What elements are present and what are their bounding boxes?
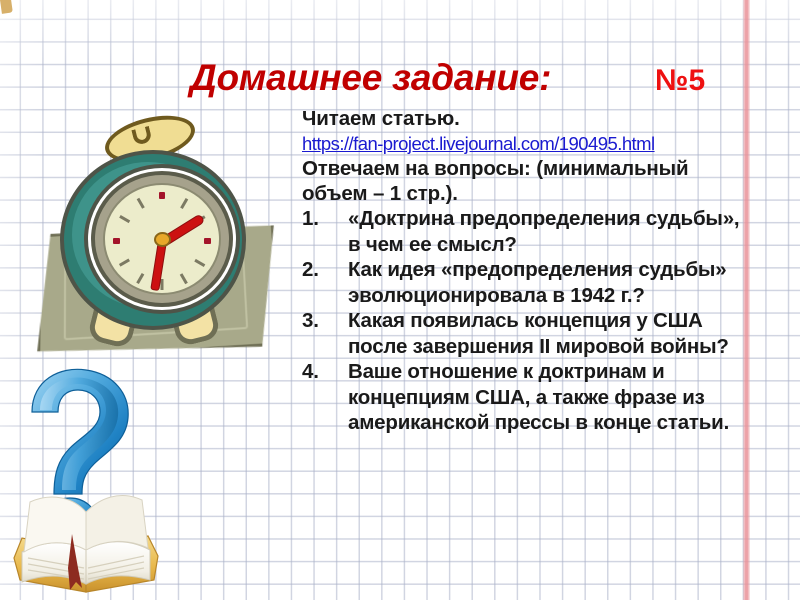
list-item-line: Ваше отношение к доктринам и [348, 360, 664, 383]
corner-speck-decoration [0, 0, 13, 14]
list-item-line: «Доктрина предопределения судьбы», [348, 207, 739, 230]
list-item: 3. Какая появилась концепция у США после… [296, 308, 766, 359]
clock-tick [119, 259, 130, 267]
clock-tick [136, 273, 144, 284]
list-item-line: Как идея «предопределения судьбы» [348, 258, 726, 281]
clock-face [103, 183, 221, 295]
list-item: 2. Как идея «предопределения судьбы» эво… [296, 257, 766, 308]
list-item-line: Какая появилась концепция у США [348, 309, 703, 332]
list-item-line: после завершения II мировой войны? [348, 335, 729, 358]
list-item-line: в чем ее смысл? [348, 233, 517, 256]
page-title: Домашнее задание: [190, 57, 551, 99]
article-link[interactable]: https://fan-project.livejournal.com/1904… [296, 131, 766, 156]
list-item-number: 1. [302, 206, 336, 232]
clock-tick [136, 198, 144, 209]
list-item-number: 3. [302, 308, 336, 334]
question-mark-book-illustration [8, 362, 178, 600]
clock-tick [204, 238, 211, 244]
list-item: 1. «Доктрина предопределения судьбы», в … [296, 206, 766, 257]
instruction-line-1: Отвечаем на вопросы: (минимальный [296, 156, 766, 181]
instruction-line-2: объем – 1 стр.). [296, 181, 766, 206]
clock-tick [194, 259, 205, 267]
list-item-line: эволюционировала в 1942 г.? [348, 284, 645, 307]
read-article-label: Читаем статью. [296, 106, 766, 131]
clock-tick [161, 279, 164, 290]
list-item-number: 2. [302, 257, 336, 283]
assignment-number: №5 [655, 64, 705, 98]
clock-tick [180, 273, 188, 284]
alarm-clock-illustration [34, 108, 294, 358]
clock-tick [159, 192, 165, 199]
clock-center-cap [154, 232, 171, 247]
list-item-line: американской прессы в конце статьи. [348, 411, 729, 434]
clock-tick [180, 198, 188, 209]
slide-canvas: Домашнее задание: №5 Читаем статью. http… [0, 0, 800, 600]
clock-tick [113, 238, 120, 244]
question-mark-icon [8, 362, 178, 600]
list-item-line: концепциям США, а также фразе из [348, 386, 705, 409]
clock-tick [119, 215, 130, 223]
list-item-number: 4. [302, 359, 336, 385]
list-item: 4. Ваше отношение к доктринам и концепци… [296, 359, 766, 436]
question-list: 1. «Доктрина предопределения судьбы», в … [296, 206, 766, 436]
assignment-text-block: Читаем статью. https://fan-project.livej… [296, 106, 766, 436]
